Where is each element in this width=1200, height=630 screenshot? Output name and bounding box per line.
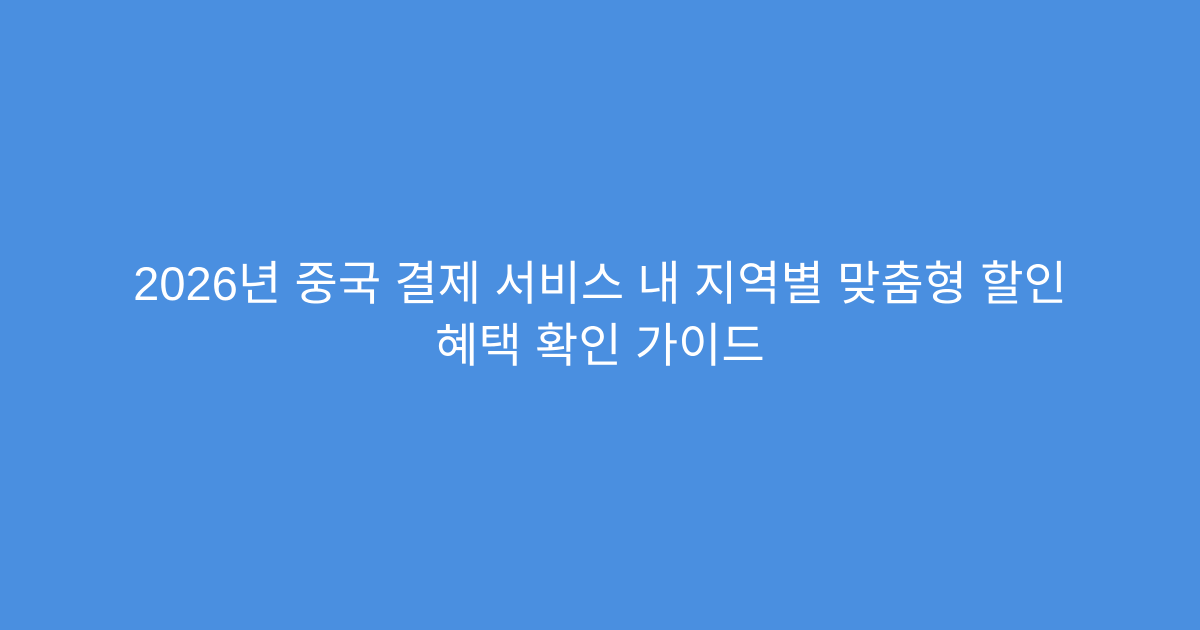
social-share-card: 2026년 중국 결제 서비스 내 지역별 맞춤형 할인 혜택 확인 가이드 (0, 0, 1200, 630)
page-title: 2026년 중국 결제 서비스 내 지역별 맞춤형 할인 혜택 확인 가이드 (93, 253, 1107, 377)
title-block: 2026년 중국 결제 서비스 내 지역별 맞춤형 할인 혜택 확인 가이드 (93, 253, 1107, 377)
